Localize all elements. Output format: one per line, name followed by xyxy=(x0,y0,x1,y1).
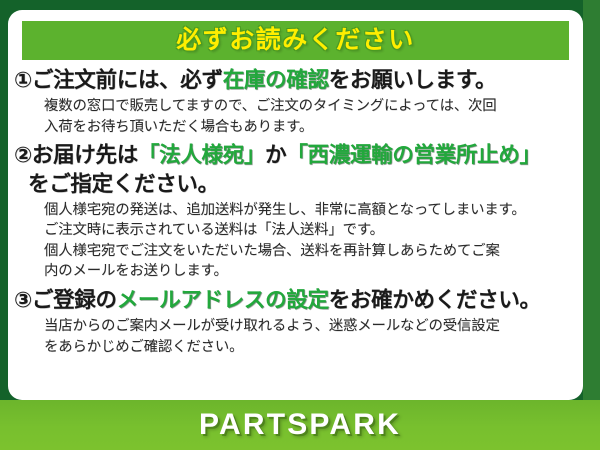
notice-item: ③ご登録のメールアドレスの設定をお確かめください。当店からのご案内メールが受け取… xyxy=(14,286,575,357)
notice-body-line: 個人様宅宛の発送は、追加送料が発生し、非常に高額となってしまいます。 xyxy=(44,200,575,220)
heading-text: ご登録の xyxy=(32,288,117,312)
notice-heading: ①ご注文前には、必ず在庫の確認をお願いします。 xyxy=(14,66,575,94)
heading-second-line: をご指定ください。 xyxy=(14,170,219,198)
heading-highlight: メールアドレスの設定 xyxy=(117,288,329,312)
right-accent-strip xyxy=(583,0,600,400)
heading-text: か xyxy=(265,143,286,167)
heading-text: をお確かめください。 xyxy=(329,288,541,312)
notice-heading: ③ご登録のメールアドレスの設定をお確かめください。 xyxy=(14,286,575,314)
notice-body: 個人様宅宛の発送は、追加送料が発生し、非常に高額となってしまいます。ご注文時に表… xyxy=(14,200,575,282)
heading-text: お届け先は xyxy=(32,143,138,167)
heading-highlight: 「西濃運輸の営業所止め」 xyxy=(286,143,540,167)
notice-item: ①ご注文前には、必ず在庫の確認をお願いします。複数の窓口で販売してますので、ご注… xyxy=(14,66,575,137)
notice-card: 必ずお読みください ①ご注文前には、必ず在庫の確認をお願いします。複数の窓口で販… xyxy=(8,10,583,400)
notice-marker: ③ xyxy=(14,288,32,312)
notice-item: ②お届け先は「法人様宛」か「西濃運輸の営業所止め」をご指定ください。個人様宅宛の… xyxy=(14,141,575,282)
notice-marker: ② xyxy=(14,143,32,167)
heading-text: ご注文前には、必ず xyxy=(32,68,223,92)
heading-highlight: 「法人様宛」 xyxy=(138,143,265,167)
notice-body-line: 当店からのご案内メールが受け取れるよう、迷惑メールなどの受信設定 xyxy=(44,316,575,336)
notice-body-line: をあらかじめご確認ください。 xyxy=(44,337,575,357)
footer-bar: PARTSPARK xyxy=(0,400,600,450)
notice-body-line: 個人様宅宛でご注文をいただいた場合、送料を再計算しあらためてご案 xyxy=(44,241,575,261)
heading-highlight: 在庫の確認 xyxy=(223,68,329,92)
notice-body-line: 入荷をお待ち頂いただく場合もあります。 xyxy=(44,117,575,137)
header-bar: 必ずお読みください xyxy=(22,21,569,60)
brand-logo: PARTSPARK xyxy=(199,410,401,440)
notice-body-line: 複数の窓口で販売してますので、ご注文のタイミングによっては、次回 xyxy=(44,96,575,116)
notice-heading: ②お届け先は「法人様宛」か「西濃運輸の営業所止め」をご指定ください。 xyxy=(14,141,575,198)
header-title: 必ずお読みください xyxy=(176,28,415,53)
notice-marker: ① xyxy=(14,68,32,92)
notice-body-line: 内のメールをお送りします。 xyxy=(44,261,575,281)
notice-list: ①ご注文前には、必ず在庫の確認をお願いします。複数の窓口で販売してますので、ご注… xyxy=(8,66,583,361)
notice-body-line: ご注文時に表示されている送料は「法人送料」です。 xyxy=(44,220,575,240)
notice-banner: 必ずお読みください ①ご注文前には、必ず在庫の確認をお願いします。複数の窓口で販… xyxy=(0,0,600,450)
notice-body: 当店からのご案内メールが受け取れるよう、迷惑メールなどの受信設定をあらかじめご確… xyxy=(14,316,575,357)
notice-body: 複数の窓口で販売してますので、ご注文のタイミングによっては、次回入荷をお待ち頂い… xyxy=(14,96,575,137)
heading-text: をお願いします。 xyxy=(329,68,496,92)
